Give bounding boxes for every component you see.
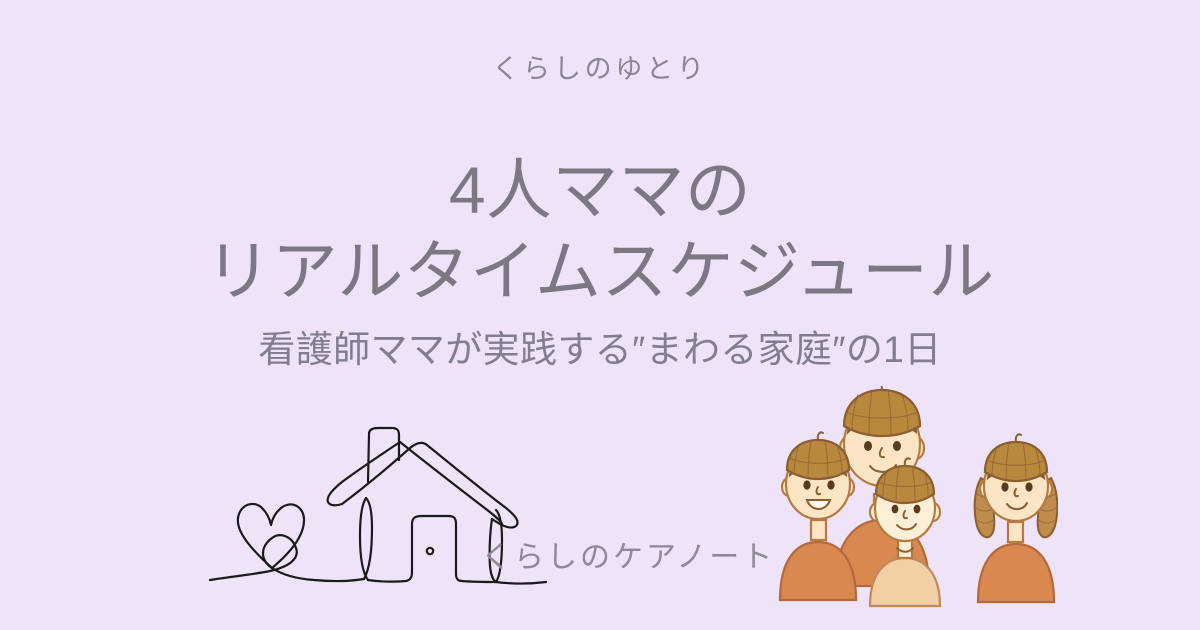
page-title-line-2: リアルタイムスケジュール (0, 231, 1200, 312)
door-knob-icon (427, 548, 433, 554)
eyebrow-label: くらしのゆとり (0, 56, 1200, 83)
child-left (780, 432, 856, 600)
house-line-art-icon (196, 408, 756, 608)
brand-name: くらしのケアノート (481, 532, 775, 576)
page-subtitle: 看護師ママが実践する″まわる家庭″の1日 (0, 327, 1200, 373)
page-title: 4人ママの リアルタイムスケジュール (0, 150, 1200, 311)
four-children-illustration: .sk{fill:#fbe5c4;stroke:#b37b43;stroke-w… (778, 386, 1058, 608)
child-right (975, 434, 1058, 602)
brand-logo: くらしのケアノート (196, 408, 756, 608)
page-title-line-1: 4人ママの (0, 150, 1200, 231)
poster-canvas: くらしのゆとり 4人ママの リアルタイムスケジュール 看護師ママが実践する″まわ… (0, 0, 1200, 630)
